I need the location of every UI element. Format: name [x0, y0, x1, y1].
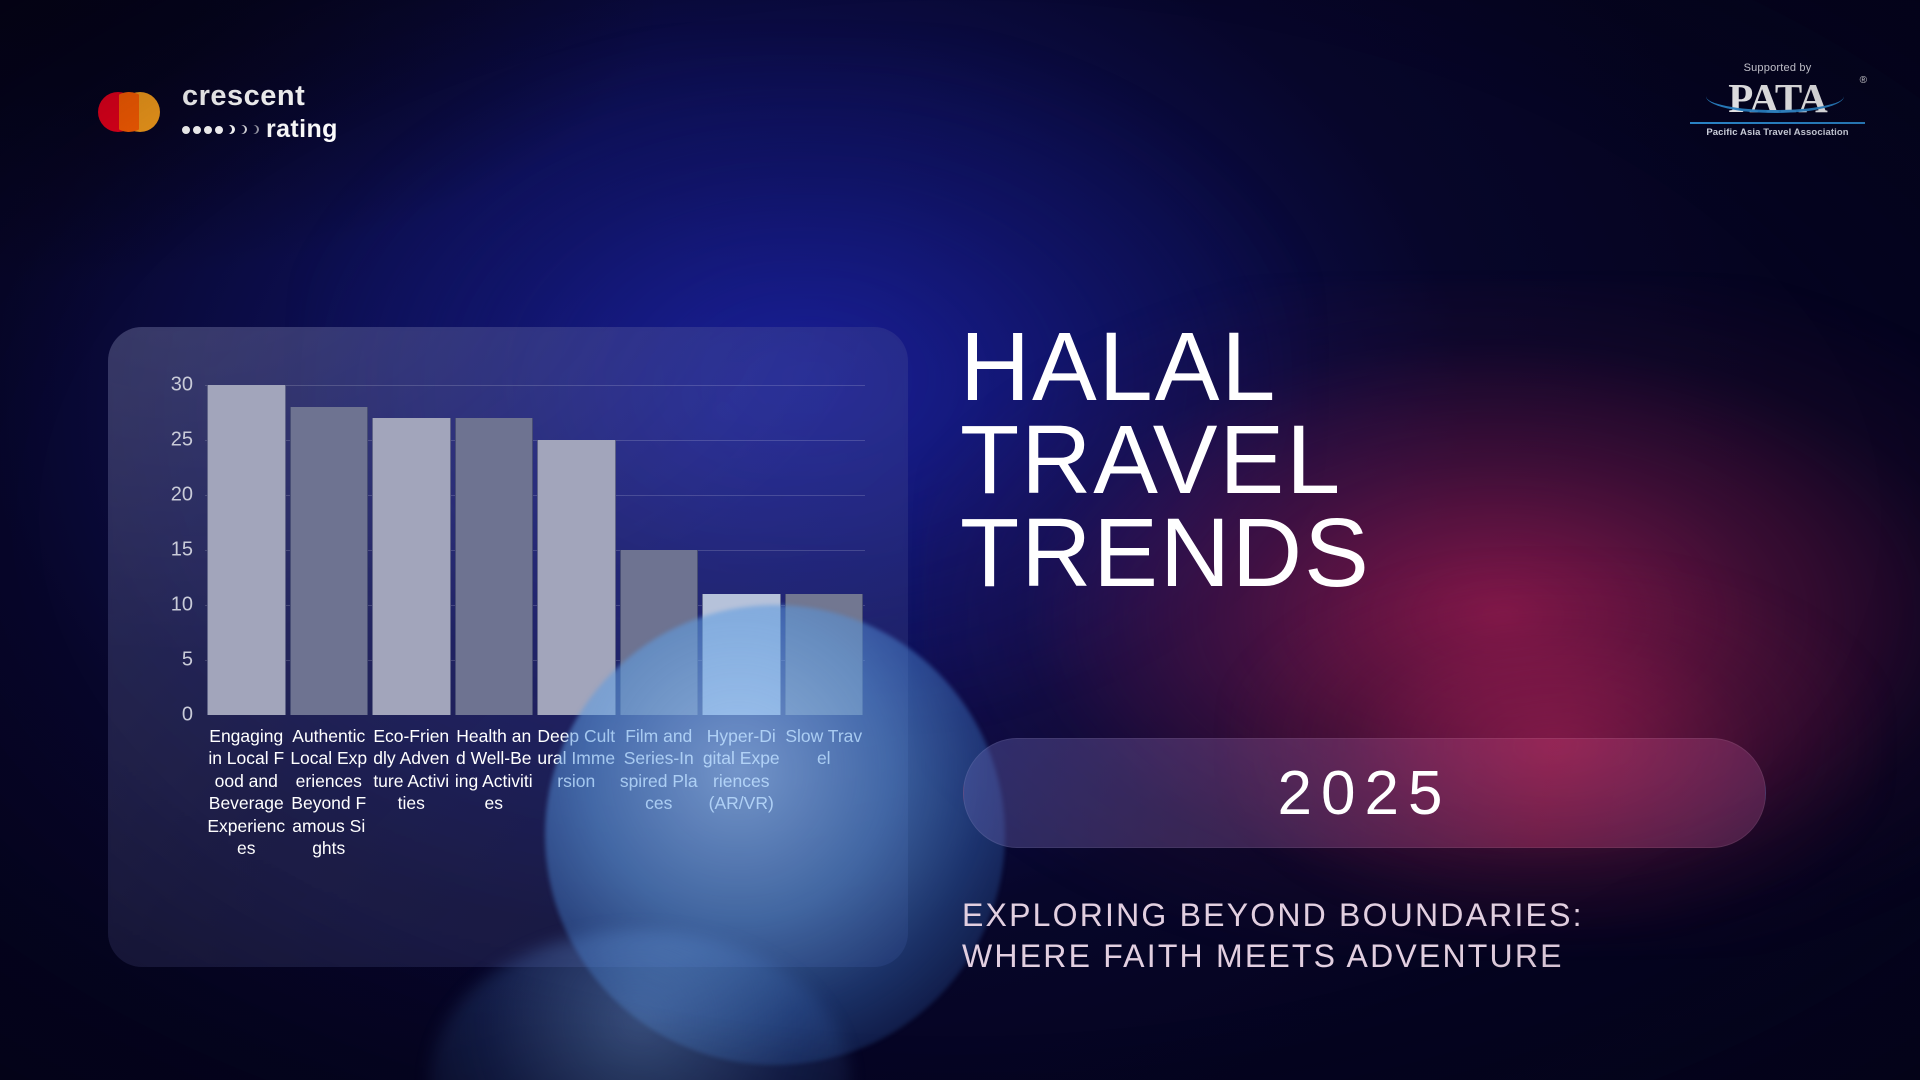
background-vignette [0, 0, 1920, 1080]
